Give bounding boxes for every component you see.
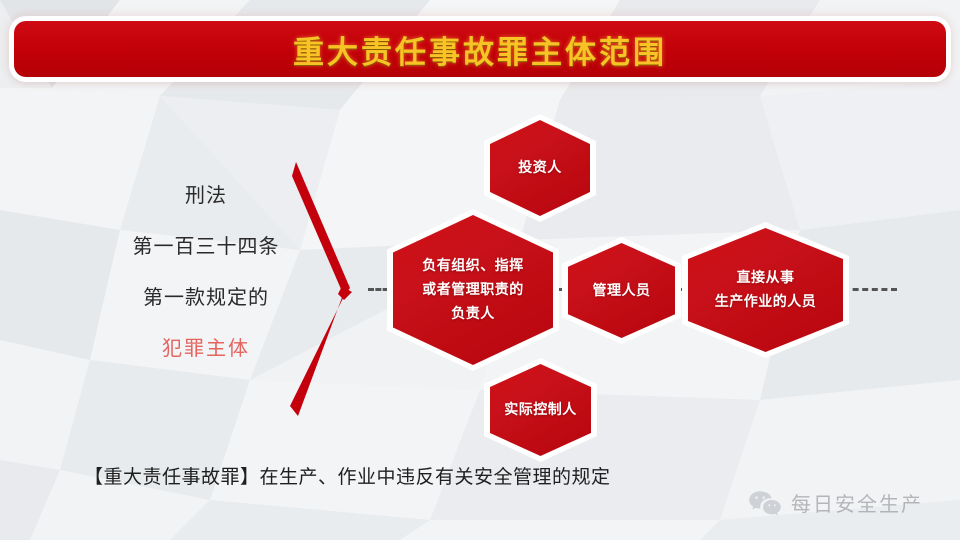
hexagon-frontline-worker-label: 直接从事 生产作业的人员 [705,266,827,314]
wechat-icon [748,490,782,516]
hexagon-frontline-worker-line-1: 直接从事 [737,269,795,285]
hexagon-responsible-person-line-3: 负责人 [451,305,495,321]
connector-dash-right [843,288,897,291]
statute-line-1: 刑法 [96,186,316,206]
statute-line-2: 第一百三十四条 [96,237,316,257]
watermark-label: 每日安全生产 [791,488,923,517]
page-title: 重大责任事故罪主体范围 [293,27,667,72]
hexagon-actual-controller-label: 实际控制人 [494,398,587,422]
hexagon-frontline-worker-line-2: 生产作业的人员 [715,293,817,309]
statute-line-3: 第一款规定的 [96,288,316,308]
hexagon-responsible-person-line-1: 负有组织、指挥 [422,257,524,273]
hexagon-investor-label: 投资人 [508,156,572,180]
title-banner: 重大责任事故罪主体范围 [14,21,946,77]
hexagon-responsible-person-line-2: 或者管理职责的 [422,281,524,297]
hexagon-responsible-person-label: 负有组织、指挥 或者管理职责的 负责人 [412,254,534,325]
watermark: 每日安全生产 [748,488,923,517]
chevron-right-icon [284,160,364,420]
statute-line-4-accent: 犯罪主体 [96,339,316,359]
slide-canvas: 重大责任事故罪主体范围 刑法 第一百三十四条 第一款规定的 犯罪主体 投资人 负… [0,0,960,540]
statute-text-block: 刑法 第一百三十四条 第一款规定的 犯罪主体 [96,186,316,359]
caption-text: 【重大责任事故罪】在生产、作业中违反有关安全管理的规定 [84,462,611,489]
hexagon-management-staff-label: 管理人员 [583,279,661,303]
